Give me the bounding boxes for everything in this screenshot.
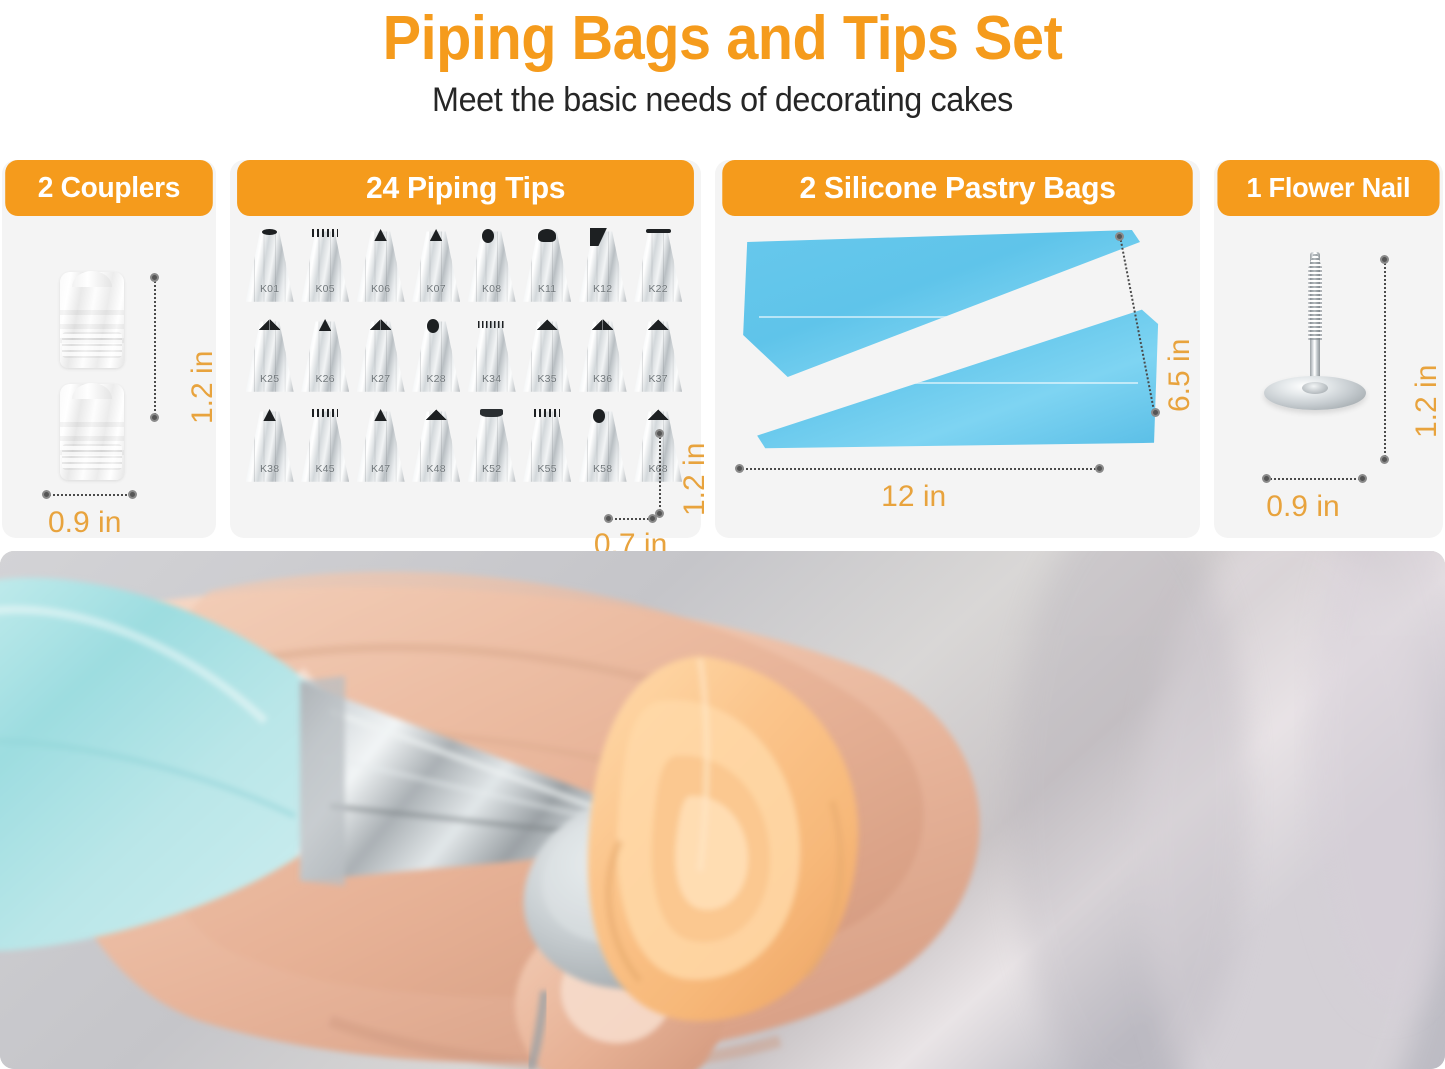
piping-tip: K27	[357, 320, 405, 394]
dimension-endpoint-dot	[735, 464, 744, 473]
piping-tip: K38	[246, 410, 294, 484]
dimension-endpoint-dot	[42, 490, 51, 499]
dimension-endpoint-dot	[1380, 255, 1389, 264]
dimension-line-horizontal	[739, 468, 1099, 470]
card-header-flower-nail: 1 Flower Nail	[1218, 160, 1440, 216]
piping-tip: K55	[523, 410, 571, 484]
card-header-couplers: 2 Couplers	[5, 160, 212, 216]
piping-tip: K12	[579, 230, 627, 304]
flower-nail-threaded-stem	[1308, 252, 1322, 340]
dimension-endpoint-dot	[1358, 474, 1367, 483]
card-pastry-bags: 2 Silicone Pastry Bags 6.5 in	[715, 160, 1200, 538]
piping-tip: K52	[468, 410, 516, 484]
piping-tip: K47	[357, 410, 405, 484]
piping-tip: K35	[523, 320, 571, 394]
coupler-item	[60, 384, 124, 480]
dimension-label-height: 1.2 in	[678, 443, 712, 516]
dimension-label-width: 0.9 in	[48, 506, 121, 540]
dimension-endpoint-dot	[1262, 474, 1271, 483]
piping-tip: K07	[412, 230, 460, 304]
photo-illustration	[0, 551, 1445, 1069]
piping-tip: K37	[634, 320, 682, 394]
dimension-endpoint-dot	[150, 273, 159, 282]
lifestyle-photo	[0, 551, 1445, 1069]
card-flower-nail: 1 Flower Nail 1.2 in 0.9 in	[1214, 160, 1443, 538]
dimension-line-vertical	[154, 278, 156, 418]
dimension-line-vertical	[659, 434, 661, 514]
piping-tip: K05	[301, 230, 349, 304]
piping-tip: K34	[468, 320, 516, 394]
piping-tip: K01	[246, 230, 294, 304]
card-body-couplers: 1.2 in 0.9 in	[2, 216, 216, 538]
piping-tip: K25	[246, 320, 294, 394]
card-body-pastry-bags: 6.5 in 12 in	[715, 216, 1200, 538]
product-card-row: 2 Couplers 1.2 in 0.9 i	[0, 160, 1445, 538]
piping-tip: K22	[634, 230, 682, 304]
piping-tip: K58	[579, 410, 627, 484]
dimension-label-length: 12 in	[881, 480, 946, 514]
pastry-bag-illustration	[737, 230, 1157, 460]
dimension-line-horizontal	[608, 518, 652, 520]
dimension-line-horizontal	[46, 494, 134, 496]
card-body-flower-nail: 1.2 in 0.9 in	[1214, 216, 1443, 538]
dimension-endpoint-dot	[648, 514, 657, 523]
card-header-pastry-bags: 2 Silicone Pastry Bags	[722, 160, 1193, 216]
piping-tip: K06	[357, 230, 405, 304]
page-subtitle: Meet the basic needs of decorating cakes	[36, 81, 1409, 120]
card-piping-tips: 24 Piping Tips K01 K05 K06 K07 K08 K11 K…	[230, 160, 701, 538]
page-title: Piping Bags and Tips Set	[51, 6, 1395, 71]
dimension-endpoint-dot	[1380, 455, 1389, 464]
dimension-line-vertical	[1384, 260, 1386, 460]
flower-nail-illustration	[1260, 244, 1370, 464]
piping-tip: K26	[301, 320, 349, 394]
dimension-line-horizontal	[1266, 478, 1364, 480]
dimension-label-height: 1.2 in	[1410, 365, 1444, 438]
piping-tip: K11	[523, 230, 571, 304]
piping-tip: K36	[579, 320, 627, 394]
dimension-endpoint-dot	[128, 490, 137, 499]
coupler-item	[60, 272, 124, 368]
infographic-page: Piping Bags and Tips Set Meet the basic …	[0, 0, 1445, 1069]
dimension-endpoint-dot	[604, 514, 613, 523]
dimension-label-width: 0.9 in	[1266, 490, 1339, 524]
piping-tip-grid: K01 K05 K06 K07 K08 K11 K12 K22 K25 K26 …	[242, 224, 686, 494]
piping-tip: K45	[301, 410, 349, 484]
dimension-label-height: 1.2 in	[186, 351, 220, 424]
dimension-endpoint-dot	[655, 429, 664, 438]
page-header: Piping Bags and Tips Set Meet the basic …	[0, 0, 1445, 120]
card-couplers: 2 Couplers 1.2 in 0.9 i	[2, 160, 216, 538]
card-body-piping-tips: K01 K05 K06 K07 K08 K11 K12 K22 K25 K26 …	[230, 216, 701, 538]
dimension-endpoint-dot	[150, 413, 159, 422]
dimension-label-width: 6.5 in	[1163, 339, 1197, 412]
piping-tip: K48	[412, 410, 460, 484]
dimension-endpoint-dot	[1151, 408, 1160, 417]
dimension-endpoint-dot	[1095, 464, 1104, 473]
card-header-piping-tips: 24 Piping Tips	[237, 160, 694, 216]
piping-tip: K08	[468, 230, 516, 304]
piping-tip: K28	[412, 320, 460, 394]
